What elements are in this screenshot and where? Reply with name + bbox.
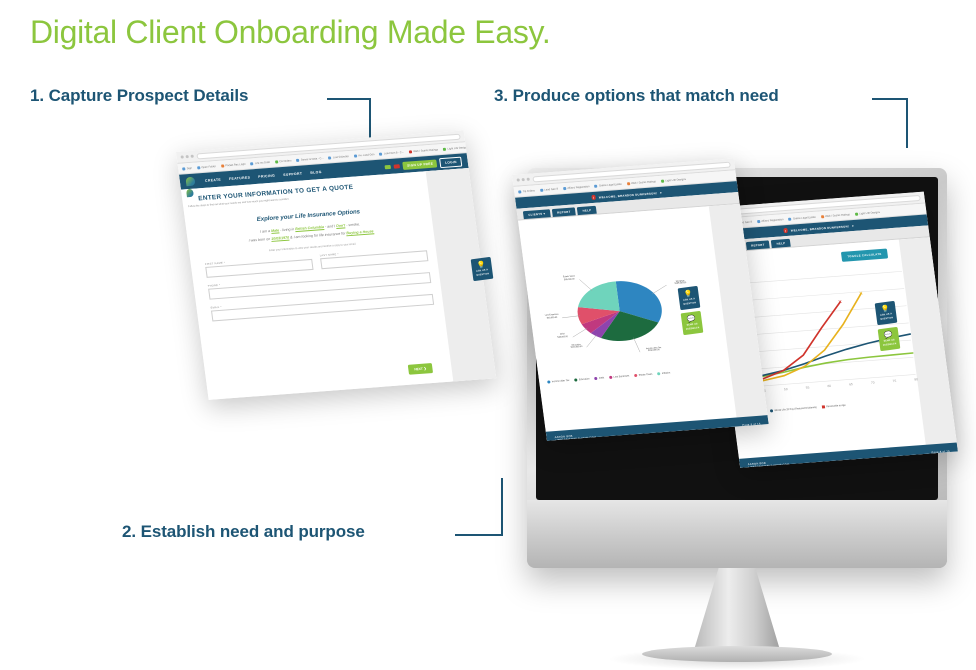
field-last-name[interactable]: LAST NAME * bbox=[320, 246, 429, 269]
field-first-name[interactable]: FIRST NAME * bbox=[205, 255, 314, 278]
legend-entry: Last Expenses bbox=[609, 374, 630, 378]
nav-item-features[interactable]: FEATURES bbox=[229, 175, 251, 181]
chevron-down-icon[interactable]: ▾ bbox=[660, 190, 662, 194]
select-province[interactable]: British Columbia bbox=[295, 225, 324, 232]
browser-window-report-pie[interactable]: Tip Orders Lead Gen 8 Allianz Registrati… bbox=[512, 158, 769, 440]
window-controls[interactable] bbox=[181, 155, 194, 159]
chat-icon: 💬 bbox=[687, 315, 697, 323]
legend-entry: Renewable to Age bbox=[822, 404, 846, 409]
series-end-marker: ✕ bbox=[838, 299, 843, 305]
bookmark-item[interactable]: Life Ins Draft bbox=[250, 160, 270, 164]
pie-leader-line bbox=[651, 285, 668, 294]
page-title: Digital Client Onboarding Made Easy. bbox=[30, 14, 550, 51]
legend-entry: Education bbox=[574, 377, 590, 381]
quote-page-body: ENTER YOUR INFORMATION TO GET A QUOTE Fo… bbox=[181, 168, 496, 400]
connector-line-step2 bbox=[455, 478, 503, 536]
tab-help[interactable]: HELP bbox=[771, 239, 791, 248]
sidetab-ask-question-2[interactable]: 💡 ASK US A QUESTION bbox=[678, 286, 701, 310]
bookmark-item[interactable]: Light Life Designs bbox=[443, 146, 467, 151]
bookmark-item[interactable]: Allianz Registration bbox=[757, 218, 784, 223]
bookmark-item[interactable]: Tip Orders bbox=[518, 189, 535, 193]
sidetab-ask-question-3[interactable]: 💡 ASK US A QUESTION bbox=[875, 301, 898, 325]
bookmark-item[interactable]: CA Orders bbox=[275, 159, 292, 163]
monitor-stand-neck bbox=[694, 564, 780, 650]
x-axis-tick: 55 bbox=[806, 385, 810, 389]
window-controls[interactable] bbox=[517, 178, 530, 182]
connector-line-step3 bbox=[872, 98, 910, 148]
lightbulb-icon: 💡 bbox=[477, 261, 487, 269]
lightbulb-icon: 💡 bbox=[881, 305, 891, 313]
browser-window-quote-form[interactable]: Sign Open Folder Pocket Rec Login Life I… bbox=[176, 130, 496, 399]
step-label-establish: 2. Establish need and purpose bbox=[122, 522, 365, 542]
chevron-down-icon[interactable]: ▾ bbox=[852, 223, 854, 227]
flag-us-icon[interactable] bbox=[385, 164, 392, 168]
x-axis-tick: 50 bbox=[784, 387, 788, 391]
pie-callout-amount: $120,000.00 bbox=[571, 346, 583, 349]
lightbulb-icon: 💡 bbox=[684, 290, 694, 298]
bookmark-item[interactable]: Web / Scenic Ratings bbox=[409, 148, 439, 153]
pie-leader-line bbox=[579, 279, 592, 292]
grid-line bbox=[728, 271, 902, 284]
logo-icon bbox=[185, 176, 198, 186]
grid-line bbox=[730, 289, 904, 302]
x-axis-tick: 65 bbox=[849, 382, 853, 386]
series-end-marker: ✕ bbox=[859, 291, 864, 297]
chat-icon: 💬 bbox=[884, 331, 894, 339]
flag-ca-icon[interactable] bbox=[394, 164, 401, 168]
pie-callout-amount: $65,000.00 bbox=[564, 278, 575, 281]
bookmark-item[interactable]: Online Legal Estate bbox=[788, 215, 815, 220]
signup-free-button[interactable]: SIGN UP FREE bbox=[403, 159, 438, 169]
monitor-stand-foot bbox=[642, 646, 832, 662]
monitor-chin bbox=[527, 500, 947, 568]
next-button[interactable]: NEXT ❯ bbox=[408, 363, 433, 375]
pie-leader-line bbox=[633, 337, 640, 352]
legend-entry: Income after Tax bbox=[547, 379, 570, 384]
step-label-capture: 1. Capture Prospect Details bbox=[30, 86, 248, 106]
step-label-produce: 3. Produce options that match need bbox=[494, 86, 779, 106]
sidetab-send-feedback-3[interactable]: 💬 SEND US FEEDBACK bbox=[878, 327, 901, 351]
poster-canvas: Digital Client Onboarding Made Easy. 1. … bbox=[0, 0, 976, 652]
pie-callout-amount: $185,000.00 bbox=[675, 282, 687, 285]
legend-entry: Whole Life 20 Pay (Reduced Dividends) bbox=[770, 406, 817, 412]
bookmark-item[interactable]: Pocket Rec Login bbox=[221, 162, 246, 167]
bookmark-item[interactable]: Open Folder bbox=[197, 165, 216, 169]
x-axis-tick: 60 bbox=[827, 384, 831, 388]
pie-callout-amount: $150,000.00 bbox=[648, 349, 660, 352]
x-axis-tick: 70 bbox=[871, 381, 875, 385]
sidetab-ask-question-1[interactable]: 💡 ASK US A QUESTION bbox=[471, 257, 494, 281]
nav-item-create[interactable]: CREATE bbox=[205, 177, 222, 182]
line-series bbox=[739, 353, 915, 380]
nav-item-blog[interactable]: BLOG bbox=[310, 170, 322, 175]
input-date-of-birth[interactable]: 10/03/1970 bbox=[271, 236, 290, 242]
alert-badge-icon: ! bbox=[591, 195, 596, 200]
bookmark-item[interactable]: Sign bbox=[182, 166, 192, 170]
legend-entry: Debt bbox=[594, 376, 604, 380]
tab-help[interactable]: HELP bbox=[577, 206, 597, 215]
grid-line bbox=[739, 357, 913, 370]
login-button[interactable]: LOGIN bbox=[439, 156, 462, 168]
bookmark-item[interactable]: Lead Gen 8 bbox=[540, 187, 558, 191]
bookmark-item[interactable]: Web / Scenic Ratings bbox=[626, 180, 656, 185]
legend-entry: Inflation bbox=[657, 371, 670, 375]
bookmark-item[interactable]: Server & Data - C... bbox=[296, 156, 323, 161]
report-canvas: Mortgage$185,000.00Income after Tax$150,… bbox=[518, 204, 769, 441]
pie-callout-amount: $40,000.00 bbox=[547, 317, 558, 320]
bookmark-item[interactable]: Lost Estimate bbox=[328, 155, 349, 159]
bookmark-item[interactable]: Light Life Designs bbox=[855, 210, 880, 215]
toggle-calculate-button[interactable]: TOGGLE CALCULATE bbox=[841, 248, 888, 261]
alert-badge-icon: ! bbox=[783, 228, 788, 233]
legend-entry: Estate Taxes bbox=[634, 373, 653, 377]
nav-item-pricing[interactable]: PRICING bbox=[258, 173, 275, 178]
bookmark-item[interactable]: Allianz Registration bbox=[563, 185, 590, 190]
bookmark-item[interactable]: Light Life Designs bbox=[661, 177, 686, 182]
nav-item-support[interactable]: SUPPORT bbox=[283, 171, 303, 176]
pie-leader-line bbox=[562, 316, 580, 318]
x-axis-tick: 80 bbox=[914, 377, 918, 381]
bookmark-item[interactable]: Lead Gen 8 - C... bbox=[379, 150, 404, 155]
sidetab-send-feedback-2[interactable]: 💬 SEND US FEEDBACK bbox=[681, 311, 704, 335]
pie-callout-amount: $35,000.00 bbox=[557, 336, 568, 339]
contact-form[interactable]: FIRST NAME * LAST NAME * PHONE * bbox=[205, 246, 434, 321]
bookmark-item[interactable]: Ins. Lead Gen bbox=[353, 153, 374, 158]
x-axis-tick: 75 bbox=[892, 379, 896, 383]
bookmark-item[interactable]: Online Legal Estate bbox=[594, 182, 621, 187]
select-purpose[interactable]: Buying a House bbox=[346, 229, 374, 236]
bookmark-item[interactable]: Web / Scenic Ratings bbox=[820, 213, 850, 218]
